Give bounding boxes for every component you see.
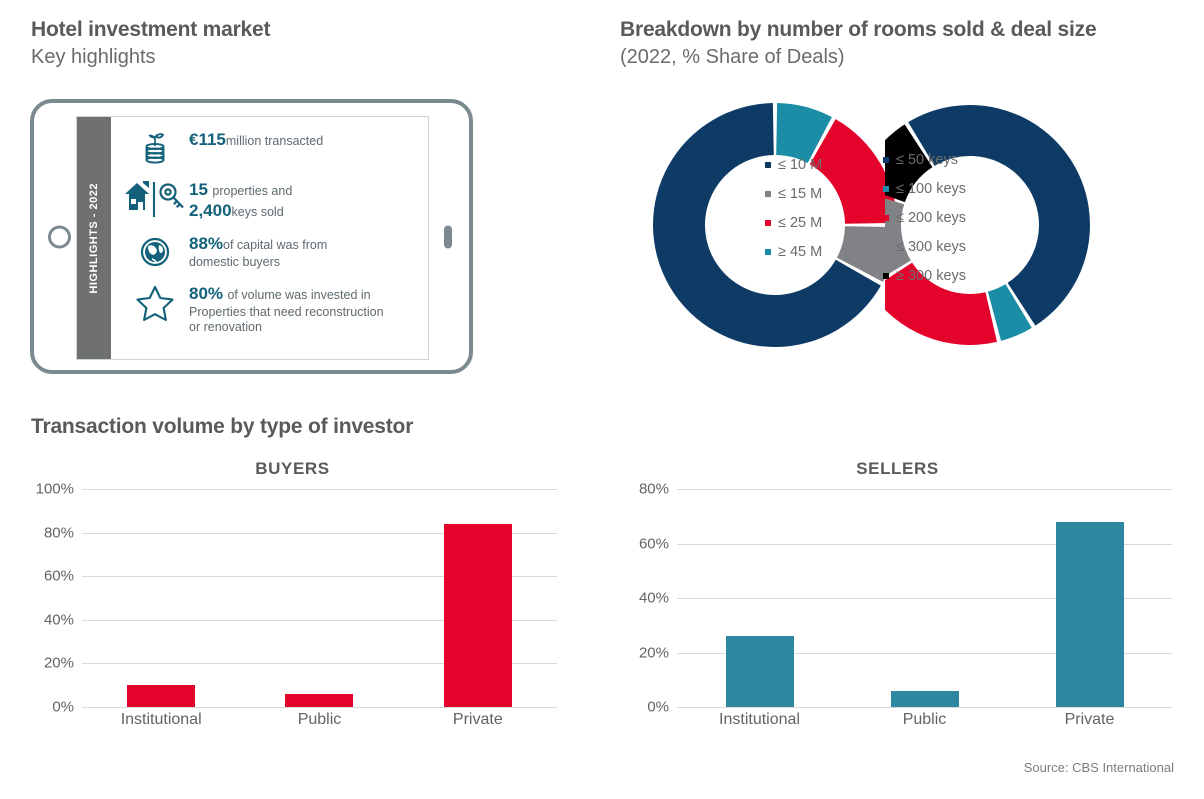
coin-stack-plant-icon bbox=[121, 126, 189, 170]
legend-label: ≥ 45 M bbox=[778, 244, 822, 260]
y-axis-tick-label: 60% bbox=[44, 568, 74, 585]
source-note: Source: CBS International bbox=[1024, 760, 1174, 775]
legend-label: ≤ 50 keys bbox=[896, 152, 958, 168]
gridline bbox=[677, 707, 1172, 708]
legend-swatch-icon bbox=[883, 215, 889, 221]
highlight-value: €115 bbox=[189, 130, 226, 149]
legend-item: ≤ 10 M bbox=[765, 157, 822, 173]
highlight-item: 15 properties and 2,400keys sold bbox=[121, 176, 422, 224]
legend-item: ≤ 200 keys bbox=[883, 210, 966, 226]
y-axis-tick-label: 0% bbox=[52, 699, 74, 716]
highlight-item: 80% of volume was invested in Properties… bbox=[121, 280, 422, 335]
bar bbox=[444, 524, 512, 707]
highlight-label: of capital was from bbox=[223, 238, 327, 252]
y-axis-tick-label: 40% bbox=[44, 611, 74, 628]
gridline bbox=[82, 707, 557, 708]
star-icon bbox=[121, 280, 189, 332]
highlight-label-line2: domestic buyers bbox=[189, 255, 422, 270]
highlight-text: €115million transacted bbox=[189, 126, 422, 151]
legend-item: ≤ 100 keys bbox=[883, 181, 966, 197]
x-axis-tick-label: Private bbox=[399, 711, 557, 729]
highlight-label: of volume was invested in bbox=[227, 288, 370, 302]
donut-charts: ≤ 10 M≤ 15 M≤ 25 M≥ 45 M ≤ 50 keys≤ 100 … bbox=[620, 72, 1190, 372]
legend-label: ≤ 100 keys bbox=[896, 181, 966, 197]
legend-label: ≤ 25 M bbox=[778, 215, 822, 231]
highlight-text: 80% of volume was invested in Properties… bbox=[189, 280, 422, 335]
sellers-bar-chart: SELLERS 0%20%40%60%80% InstitutionalPubl… bbox=[615, 455, 1180, 745]
legend-item: ≤ 50 keys bbox=[883, 152, 966, 168]
y-axis-tick-label: 80% bbox=[639, 481, 669, 498]
legend-swatch-icon bbox=[765, 249, 771, 255]
bar-slot bbox=[842, 489, 1007, 707]
y-axis-tick-label: 60% bbox=[639, 535, 669, 552]
tablet-camera-icon bbox=[444, 225, 452, 248]
x-axis-tick-label: Institutional bbox=[677, 711, 842, 729]
breakdown-subtitle: (2022, % Share of Deals) bbox=[620, 46, 845, 69]
highlight-value: 88% bbox=[189, 234, 223, 253]
x-axis-tick-label: Institutional bbox=[82, 711, 240, 729]
bar bbox=[285, 694, 353, 707]
y-axis-tick-label: 40% bbox=[639, 590, 669, 607]
legend-swatch-icon bbox=[883, 186, 889, 192]
bar-slot bbox=[399, 489, 557, 707]
page-title: Hotel investment market bbox=[31, 18, 270, 42]
highlights-sidebar: HIGHLIGHTS - 2022 bbox=[77, 117, 111, 359]
legend-label: ≤ 300 keys bbox=[896, 239, 966, 255]
x-axis-tick-label: Public bbox=[240, 711, 398, 729]
highlight-value-secondary: 2,400 bbox=[189, 201, 232, 220]
highlight-text: 15 properties and 2,400keys sold bbox=[189, 176, 422, 221]
legend-swatch-icon bbox=[765, 162, 771, 168]
legend-label: ≤ 10 M bbox=[778, 157, 822, 173]
highlight-label-line2: Properties that need reconstruction bbox=[189, 305, 422, 320]
x-axis-tick-label: Private bbox=[1007, 711, 1172, 729]
sellers-bars bbox=[677, 489, 1172, 707]
tablet-mockup: HIGHLIGHTS - 2022 bbox=[30, 99, 473, 374]
legend-label: ≥ 300 keys bbox=[896, 268, 966, 284]
sellers-x-labels: InstitutionalPublicPrivate bbox=[677, 711, 1172, 729]
legend-label: ≤ 200 keys bbox=[896, 210, 966, 226]
house-key-icon bbox=[121, 176, 189, 224]
buyers-plot-area bbox=[82, 489, 557, 707]
tablet-home-button-icon bbox=[48, 225, 71, 248]
x-axis-tick-label: Public bbox=[842, 711, 1007, 729]
buyers-x-labels: InstitutionalPublicPrivate bbox=[82, 711, 557, 729]
y-axis-tick-label: 100% bbox=[36, 481, 74, 498]
highlight-label-line3: or renovation bbox=[189, 320, 422, 335]
bar-slot bbox=[240, 489, 398, 707]
tablet-screen: HIGHLIGHTS - 2022 bbox=[76, 116, 429, 360]
highlight-label: million transacted bbox=[226, 134, 323, 148]
highlight-value: 15 bbox=[189, 180, 208, 199]
legend-label: ≤ 15 M bbox=[778, 186, 822, 202]
sellers-chart-title: SELLERS bbox=[615, 455, 1180, 479]
globe-icon bbox=[121, 230, 189, 274]
bar bbox=[1056, 522, 1124, 707]
y-axis-tick-label: 80% bbox=[44, 524, 74, 541]
legend-swatch-icon bbox=[765, 191, 771, 197]
highlights-list: €115million transacted bbox=[111, 117, 428, 359]
legend-item: ≤ 300 keys bbox=[883, 239, 966, 255]
breakdown-title: Breakdown by number of rooms sold & deal… bbox=[620, 18, 1096, 42]
buyers-y-axis: 0%20%40%60%80%100% bbox=[20, 489, 82, 707]
bar bbox=[127, 685, 195, 707]
y-axis-tick-label: 20% bbox=[44, 655, 74, 672]
bar-slot bbox=[677, 489, 842, 707]
legend-item: ≥ 45 M bbox=[765, 244, 822, 260]
page-subtitle: Key highlights bbox=[31, 46, 156, 69]
highlight-value: 80% bbox=[189, 284, 223, 303]
sellers-plot-area bbox=[677, 489, 1172, 707]
buyers-chart-title: BUYERS bbox=[20, 455, 565, 479]
bar bbox=[891, 691, 959, 707]
highlight-text: 88%of capital was from domestic buyers bbox=[189, 230, 422, 270]
y-axis-tick-label: 20% bbox=[639, 644, 669, 661]
sellers-y-axis: 0%20%40%60%80% bbox=[615, 489, 677, 707]
buyers-bar-chart: BUYERS 0%20%40%60%80%100% InstitutionalP… bbox=[20, 455, 565, 745]
buyers-bars bbox=[82, 489, 557, 707]
highlight-label: properties and bbox=[212, 184, 292, 198]
legend-item: ≥ 300 keys bbox=[883, 268, 966, 284]
highlights-sidebar-label: HIGHLIGHTS - 2022 bbox=[88, 183, 100, 294]
legend-swatch-icon bbox=[883, 157, 889, 163]
legend-swatch-icon bbox=[765, 220, 771, 226]
rooms-sold-legend: ≤ 50 keys≤ 100 keys≤ 200 keys≤ 300 keys≥… bbox=[883, 152, 966, 297]
legend-swatch-icon bbox=[883, 244, 889, 250]
bar bbox=[726, 636, 794, 707]
bar-slot bbox=[1007, 489, 1172, 707]
y-axis-tick-label: 0% bbox=[647, 699, 669, 716]
highlight-item: €115million transacted bbox=[121, 126, 422, 170]
legend-item: ≤ 25 M bbox=[765, 215, 822, 231]
legend-swatch-icon bbox=[883, 273, 889, 279]
transaction-volume-title: Transaction volume by type of investor bbox=[31, 415, 413, 439]
deal-size-legend: ≤ 10 M≤ 15 M≤ 25 M≥ 45 M bbox=[765, 157, 822, 273]
highlight-label-secondary: keys sold bbox=[232, 205, 284, 219]
legend-item: ≤ 15 M bbox=[765, 186, 822, 202]
highlight-item: 88%of capital was from domestic buyers bbox=[121, 230, 422, 274]
bar-slot bbox=[82, 489, 240, 707]
